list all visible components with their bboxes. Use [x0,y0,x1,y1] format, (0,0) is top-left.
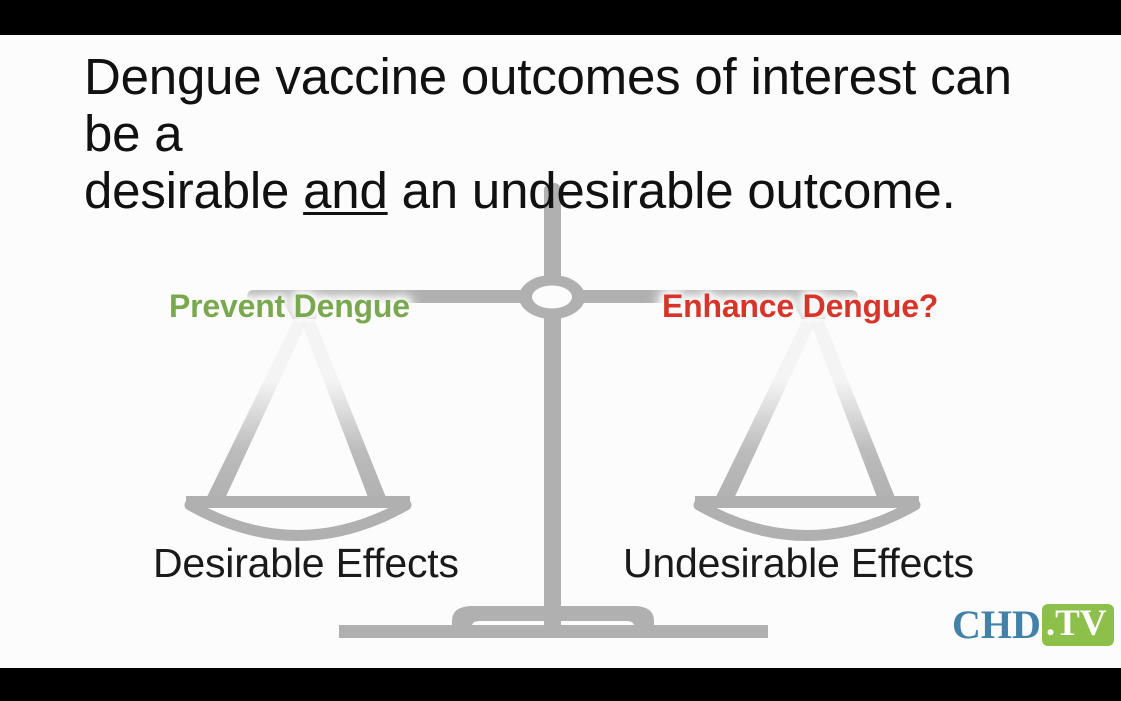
slide-title-line2-prefix: desirable [84,162,303,219]
chdtv-logo-tv-badge: .TV [1042,604,1114,646]
slide-canvas: Dengue vaccine outcomes of interest can … [0,35,1121,668]
scale-pan-right [695,303,919,536]
slide-title-line2-suffix: an undesirable outcome. [388,162,956,219]
slide-title-line1: Dengue vaccine outcomes of interest can … [84,48,1026,162]
left-pan-caption-desirable-effects: Desirable Effects [153,540,459,587]
right-pan-string-outer [712,313,820,505]
chdtv-logo: CHD .TV [952,604,1114,646]
left-pan-string-outer [203,313,311,505]
scale-pan-left [186,303,410,536]
slide-title: Dengue vaccine outcomes of interest can … [84,48,1064,219]
left-pan-string-inner [298,313,389,505]
left-pan-rim [186,496,410,508]
letterbox-bar-top [0,0,1121,35]
left-pan-label-prevent-dengue: Prevent Dengue [169,288,410,325]
scale-post [544,183,561,638]
chdtv-logo-chd-text: CHD [952,605,1041,645]
right-pan-bowl [699,505,915,536]
right-pan-rim [695,496,919,508]
slide-title-emphasis-and: and [303,162,388,219]
scale-pivot-hole [532,286,572,309]
left-pan-bowl [190,505,406,536]
right-pan-string-inner [807,313,898,505]
right-pan-caption-undesirable-effects: Undesirable Effects [623,540,974,587]
scale-base-bar [339,625,768,638]
letterbox-bar-bottom [0,668,1121,701]
video-slide-frame: Dengue vaccine outcomes of interest can … [0,0,1121,701]
right-pan-label-enhance-dengue: Enhance Dengue? [662,288,938,325]
